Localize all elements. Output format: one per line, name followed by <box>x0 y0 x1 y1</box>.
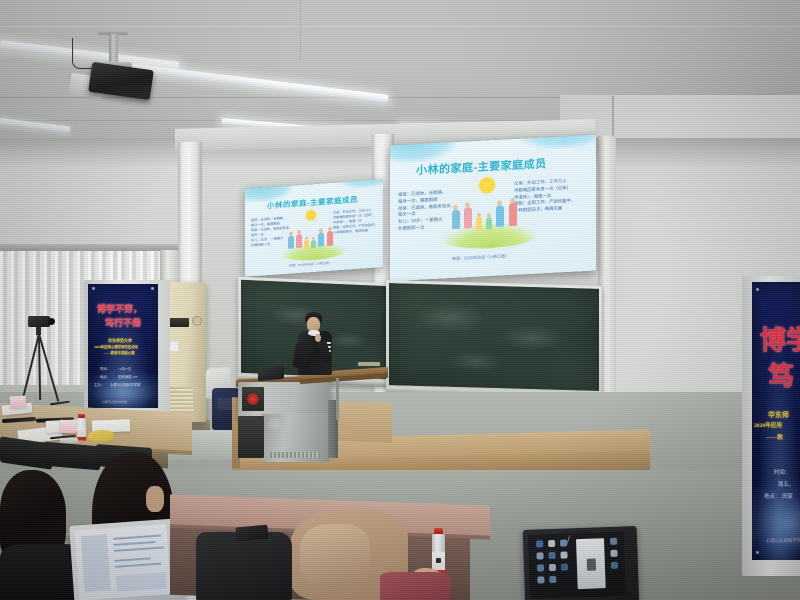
jacket-fold <box>300 524 370 584</box>
laptop-dark <box>523 526 640 600</box>
laptop-screen-dark <box>528 531 626 598</box>
right-banner-sub2: ——教 <box>766 433 783 441</box>
podium-base <box>262 414 330 462</box>
app-icon[interactable] <box>549 564 556 571</box>
dark-bag <box>196 532 292 600</box>
slide-right-bullets-main: 父亲：外出工作，工作几小 月都难回家休息一次（近年） 半退休），每周一次 姐姐：… <box>514 178 575 215</box>
document-line <box>115 557 151 562</box>
slide-footer-note-main: 来源：2015年访谈（小林口述） <box>452 253 509 262</box>
chalk-smudge <box>449 351 503 373</box>
right-banner: 博学 笃 华东师 2020年应用 ——教 时间： 周五， 地点： 田家 心理与认… <box>752 282 800 560</box>
podium-detail <box>268 418 280 430</box>
podium-side-panel <box>238 416 264 458</box>
right-banner-weekday: 周五， <box>778 480 794 488</box>
app-icon[interactable] <box>536 552 543 559</box>
camera-lens-icon <box>48 318 55 325</box>
right-banner-place-value: 田家 <box>782 492 793 500</box>
audience-person-face <box>146 486 164 512</box>
ceiling-seam <box>0 26 800 27</box>
app-icon[interactable] <box>610 550 617 557</box>
banner-time-value: 11月27日 <box>118 366 131 371</box>
ac-knob <box>192 316 202 326</box>
audience-person-clothing-right <box>380 572 450 600</box>
presenter <box>296 312 338 380</box>
podium-upper <box>238 382 330 418</box>
banner-place-value: 田家炳楼 205 <box>118 374 138 379</box>
left-banner-stand: 博学不穷， 笃行不倦 华东师范大学 2020年应用心理学研究生论坛 ——教育与发… <box>84 280 170 420</box>
banner-light-effect <box>752 478 800 560</box>
bottle-logo-icon <box>436 558 441 563</box>
app-icon[interactable] <box>548 552 555 559</box>
projection-screen-left: 小林的家庭-主要家庭成员 祖母：已退休，长期病， 每月一次，需要照顾 母亲：已退… <box>245 179 383 277</box>
podium-laptop <box>258 365 284 382</box>
presenter-hand <box>315 334 321 342</box>
screen-surface-left: 小林的家庭-主要家庭成员 祖母：已退休，长期病， 每月一次，需要照顾 母亲：已退… <box>245 179 383 277</box>
app-icon[interactable] <box>549 576 556 583</box>
name-tent-card <box>10 395 27 408</box>
screen-surface-main: 小林的家庭-主要家庭成员 祖母：已退休，长期病， 每月一次，需要照顾 母亲：已退… <box>390 135 596 282</box>
smartphone <box>235 525 268 542</box>
banner-grommet <box>151 287 154 290</box>
dialog-content-icon <box>587 558 596 570</box>
lecture-hall-photo: 小林的家庭-主要家庭成员 祖母：已退休，长期病， 每月一次，需要照顾 母亲：已退… <box>0 0 800 600</box>
document-block <box>116 572 167 591</box>
banner-host-label: 主办： <box>94 382 104 387</box>
left-banner: 博学不穷， 笃行不倦 华东师范大学 2020年应用心理学研究生论坛 ——教育与发… <box>88 284 158 408</box>
screen-cable <box>567 535 570 543</box>
banner-grommet <box>92 287 95 290</box>
document-sidebar <box>81 534 111 592</box>
slide-left-bullets-main: 祖母：已退休，长期病， 每月一次，需要照顾 母亲：已退休，做家务较多， 每天一次… <box>398 189 455 233</box>
slide-left-bullets: 祖母：已退休，长期病， 每月一次，需要照顾 母亲：已退休，做家务较多， 每天一次… <box>251 216 292 249</box>
slide-sun-icon <box>478 176 496 195</box>
banner-host-value: 心理与认知科学学院 <box>110 382 141 387</box>
curtain-rail <box>0 244 180 251</box>
right-banner-place-label: 地点： <box>764 492 780 500</box>
table-item <box>358 362 380 366</box>
right-banner-stand: 博学 笃 华东师 2020年应用 ——教 时间： 周五， 地点： 田家 心理与认… <box>742 276 800 576</box>
right-banner-headline-1: 博学 <box>760 320 800 357</box>
projection-screen-main: 小林的家庭-主要家庭成员 祖母：已退休，长期病， 每月一次，需要照顾 母亲：已退… <box>390 135 596 282</box>
banner-time-label: 时间： <box>100 366 110 371</box>
ceiling-seam <box>300 0 301 60</box>
side-table-leg <box>336 378 339 420</box>
document-line <box>115 563 161 568</box>
university-emblem <box>247 393 259 405</box>
laptop-silver <box>69 518 185 600</box>
right-banner-org: 华东师 <box>768 410 789 420</box>
app-icon[interactable] <box>536 540 543 547</box>
app-icon[interactable] <box>537 576 544 583</box>
banner-headline-2: 笃行不倦 <box>105 316 141 329</box>
app-icon[interactable] <box>610 538 617 545</box>
document-line <box>113 541 155 546</box>
document-line <box>114 546 164 551</box>
banner-sub2: ——教育与发展心理 <box>104 350 135 355</box>
chair-back <box>44 442 100 471</box>
chalk-smudge <box>499 324 565 352</box>
document-line <box>113 535 161 540</box>
app-icon[interactable] <box>537 564 544 571</box>
app-icon[interactable] <box>560 551 567 558</box>
banner-sub1: 2020年应用心理学研究生论坛 <box>94 344 138 349</box>
podium-vent <box>270 452 320 458</box>
slide-right-bullets: 父亲：外出工作，工作几小 月都难回家休息一次（近年） 半退休），每周一次 姐姐：… <box>333 208 378 236</box>
app-icon[interactable] <box>561 563 568 570</box>
slide-sun-icon <box>305 209 317 222</box>
banner-grommet <box>756 288 759 291</box>
right-banner-headline-2: 笃 <box>768 356 794 393</box>
ceiling-seam <box>0 120 560 121</box>
banner-headline-1: 博学不穷， <box>97 302 142 315</box>
app-icon[interactable] <box>548 540 555 547</box>
banner-grommet <box>756 551 759 554</box>
app-icon[interactable] <box>611 562 618 569</box>
right-banner-time-label: 时间： <box>774 468 790 476</box>
chalk-smudge <box>415 302 485 334</box>
laptop-screen-silver <box>74 524 171 600</box>
banner-footer: 心理与认知科学学院 <box>102 400 127 404</box>
right-banner-footer: 心理与认知科学学院 <box>766 538 800 544</box>
right-banner-sub1: 2020年应用 <box>754 421 782 429</box>
banner-place-label: 地点： <box>100 374 110 379</box>
name-tent-text <box>10 395 26 401</box>
blackboard-main <box>386 280 602 400</box>
slide-footer-note: 来源：2015年访谈（小林口述） <box>289 261 332 268</box>
projector-pole <box>109 34 118 64</box>
blackboard-surface <box>389 283 599 391</box>
name-tent-card <box>60 420 76 434</box>
